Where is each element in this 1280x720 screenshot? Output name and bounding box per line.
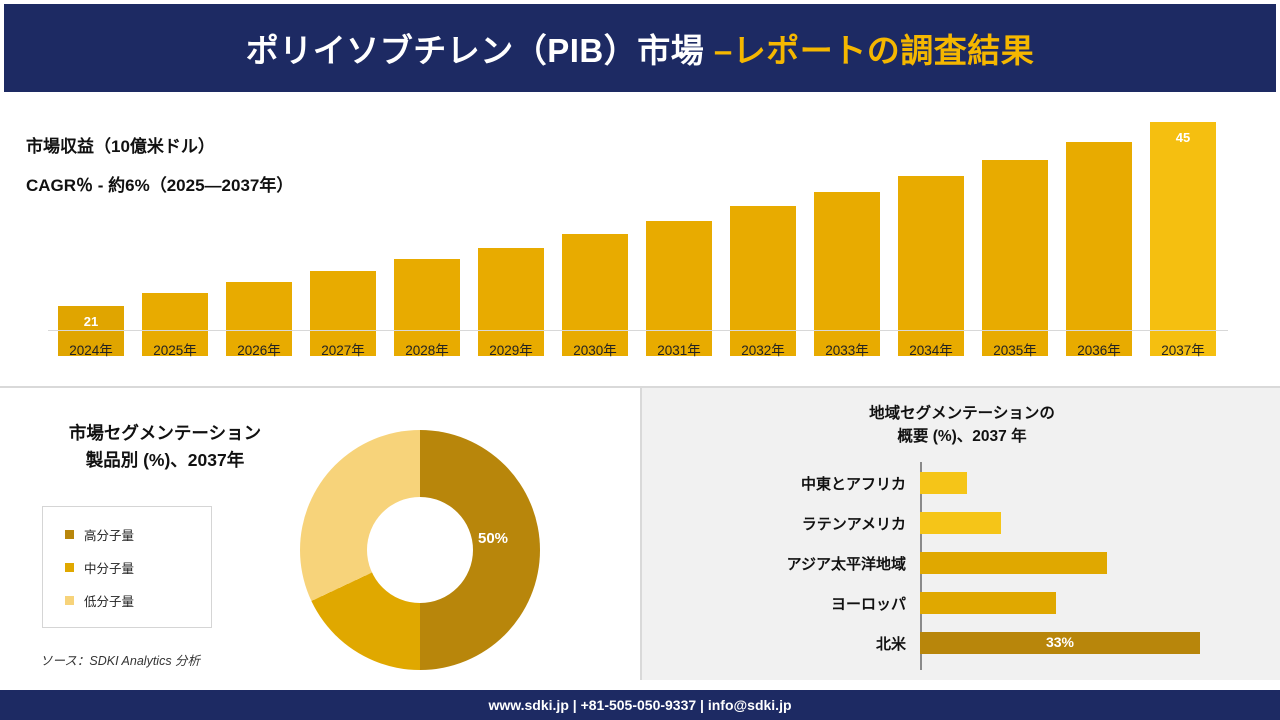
revenue-x-label: 2027年 bbox=[300, 339, 386, 359]
revenue-x-label: 2035年 bbox=[972, 339, 1058, 359]
region-bar bbox=[920, 552, 1107, 574]
footer-contact: www.sdki.jp | +81-505-050-9337 | info@sd… bbox=[488, 697, 791, 713]
donut-hole bbox=[367, 497, 473, 603]
product-donut-chart: 50% bbox=[300, 430, 550, 670]
revenue-axis-line bbox=[48, 330, 1228, 331]
region-bar bbox=[920, 512, 1001, 534]
product-segmentation-legend: 高分子量 中分子量 低分子量 bbox=[42, 506, 212, 628]
page-title-main: ポリイソブチレン（PIB）市場 bbox=[246, 32, 714, 69]
revenue-bar-column bbox=[562, 234, 628, 356]
revenue-x-label: 2030年 bbox=[552, 339, 638, 359]
revenue-bar bbox=[562, 234, 628, 356]
region-title-line2: 概要 (%)、2037 年 bbox=[897, 428, 1026, 445]
region-bar-label: ラテンアメリカ bbox=[642, 513, 920, 534]
legend-swatch-medium bbox=[65, 563, 74, 572]
revenue-bar-column bbox=[982, 160, 1048, 356]
region-bar-value: 33% bbox=[920, 634, 1200, 650]
revenue-x-label: 2033年 bbox=[804, 339, 890, 359]
revenue-bar bbox=[982, 160, 1048, 356]
revenue-x-axis-labels: 2024年2025年2026年2027年2028年2029年2030年2031年… bbox=[48, 339, 1228, 363]
page-title: ポリイソブチレン（PIB）市場 –レポートの調査結果 bbox=[246, 24, 1035, 72]
revenue-x-label: 2025年 bbox=[132, 339, 218, 359]
region-segmentation-panel: 地域セグメンテーションの 概要 (%)、2037 年 中東とアフリカラテンアメリ… bbox=[640, 388, 1280, 680]
region-bar: 33% bbox=[920, 632, 1200, 654]
region-bar-row: ラテンアメリカ bbox=[642, 506, 1280, 540]
region-bar-label: アジア太平洋地域 bbox=[642, 553, 920, 574]
revenue-x-label: 2036年 bbox=[1056, 339, 1142, 359]
region-bars-area: 中東とアフリカラテンアメリカアジア太平洋地域ヨーロッパ北米33% bbox=[642, 466, 1280, 666]
page-footer: www.sdki.jp | +81-505-050-9337 | info@sd… bbox=[0, 690, 1280, 720]
region-bar-label: 北米 bbox=[642, 633, 920, 654]
page-title-accent: –レポートの調査結果 bbox=[714, 32, 1034, 69]
product-segmentation-title-line1: 市場セグメンテーション bbox=[69, 423, 261, 443]
page-header: ポリイソブチレン（PIB）市場 –レポートの調査結果 bbox=[4, 4, 1276, 92]
revenue-bar-column bbox=[898, 176, 964, 356]
revenue-bar-value: 45 bbox=[1150, 130, 1216, 145]
revenue-x-label: 2029年 bbox=[468, 339, 554, 359]
revenue-bar-value: 21 bbox=[58, 314, 124, 329]
product-segmentation-title: 市場セグメンテーション 製品別 (%)、2037年 bbox=[0, 420, 330, 474]
revenue-x-label: 2028年 bbox=[384, 339, 470, 359]
region-bar-row: アジア太平洋地域 bbox=[642, 546, 1280, 580]
region-segmentation-title: 地域セグメンテーションの 概要 (%)、2037 年 bbox=[642, 402, 1280, 449]
revenue-bar bbox=[814, 192, 880, 356]
region-bar-label: 中東とアフリカ bbox=[642, 473, 920, 494]
region-bar bbox=[920, 472, 967, 494]
revenue-bars-area: 2145 bbox=[48, 126, 1228, 356]
source-note: ソース：SDKI Analytics 分析 bbox=[40, 650, 200, 669]
product-segmentation-title-line2: 製品別 (%)、2037年 bbox=[86, 450, 245, 470]
revenue-bar bbox=[646, 221, 712, 356]
revenue-bar bbox=[898, 176, 964, 356]
region-bar-row: 北米33% bbox=[642, 626, 1280, 660]
revenue-x-label: 2034年 bbox=[888, 339, 974, 359]
donut-center-percent: 50% bbox=[478, 530, 508, 547]
revenue-bar bbox=[1066, 142, 1132, 356]
revenue-x-label: 2031年 bbox=[636, 339, 722, 359]
revenue-bar-column bbox=[814, 192, 880, 356]
revenue-bar-column bbox=[646, 221, 712, 356]
region-bar-label: ヨーロッパ bbox=[642, 593, 920, 614]
revenue-bar bbox=[730, 206, 796, 356]
region-bar-row: 中東とアフリカ bbox=[642, 466, 1280, 500]
revenue-bar-column: 45 bbox=[1150, 122, 1216, 356]
revenue-bar-column bbox=[730, 206, 796, 356]
legend-item-high: 高分子量 bbox=[65, 525, 211, 544]
region-bar bbox=[920, 592, 1056, 614]
legend-item-low: 低分子量 bbox=[65, 591, 211, 610]
revenue-x-label: 2026年 bbox=[216, 339, 302, 359]
region-title-line1: 地域セグメンテーションの bbox=[869, 405, 1055, 422]
revenue-x-label: 2024年 bbox=[48, 339, 134, 359]
region-bar-row: ヨーロッパ bbox=[642, 586, 1280, 620]
legend-swatch-low bbox=[65, 596, 74, 605]
product-segmentation-panel: 市場セグメンテーション 製品別 (%)、2037年 高分子量 中分子量 低分子量… bbox=[0, 388, 638, 680]
revenue-x-label: 2032年 bbox=[720, 339, 806, 359]
revenue-bar: 45 bbox=[1150, 122, 1216, 356]
legend-swatch-high bbox=[65, 530, 74, 539]
revenue-x-label: 2037年 bbox=[1140, 339, 1226, 359]
legend-label-medium: 中分子量 bbox=[84, 558, 134, 577]
revenue-bar-column bbox=[1066, 142, 1132, 356]
legend-label-low: 低分子量 bbox=[84, 591, 134, 610]
legend-item-medium: 中分子量 bbox=[65, 558, 211, 577]
legend-label-high: 高分子量 bbox=[84, 525, 134, 544]
